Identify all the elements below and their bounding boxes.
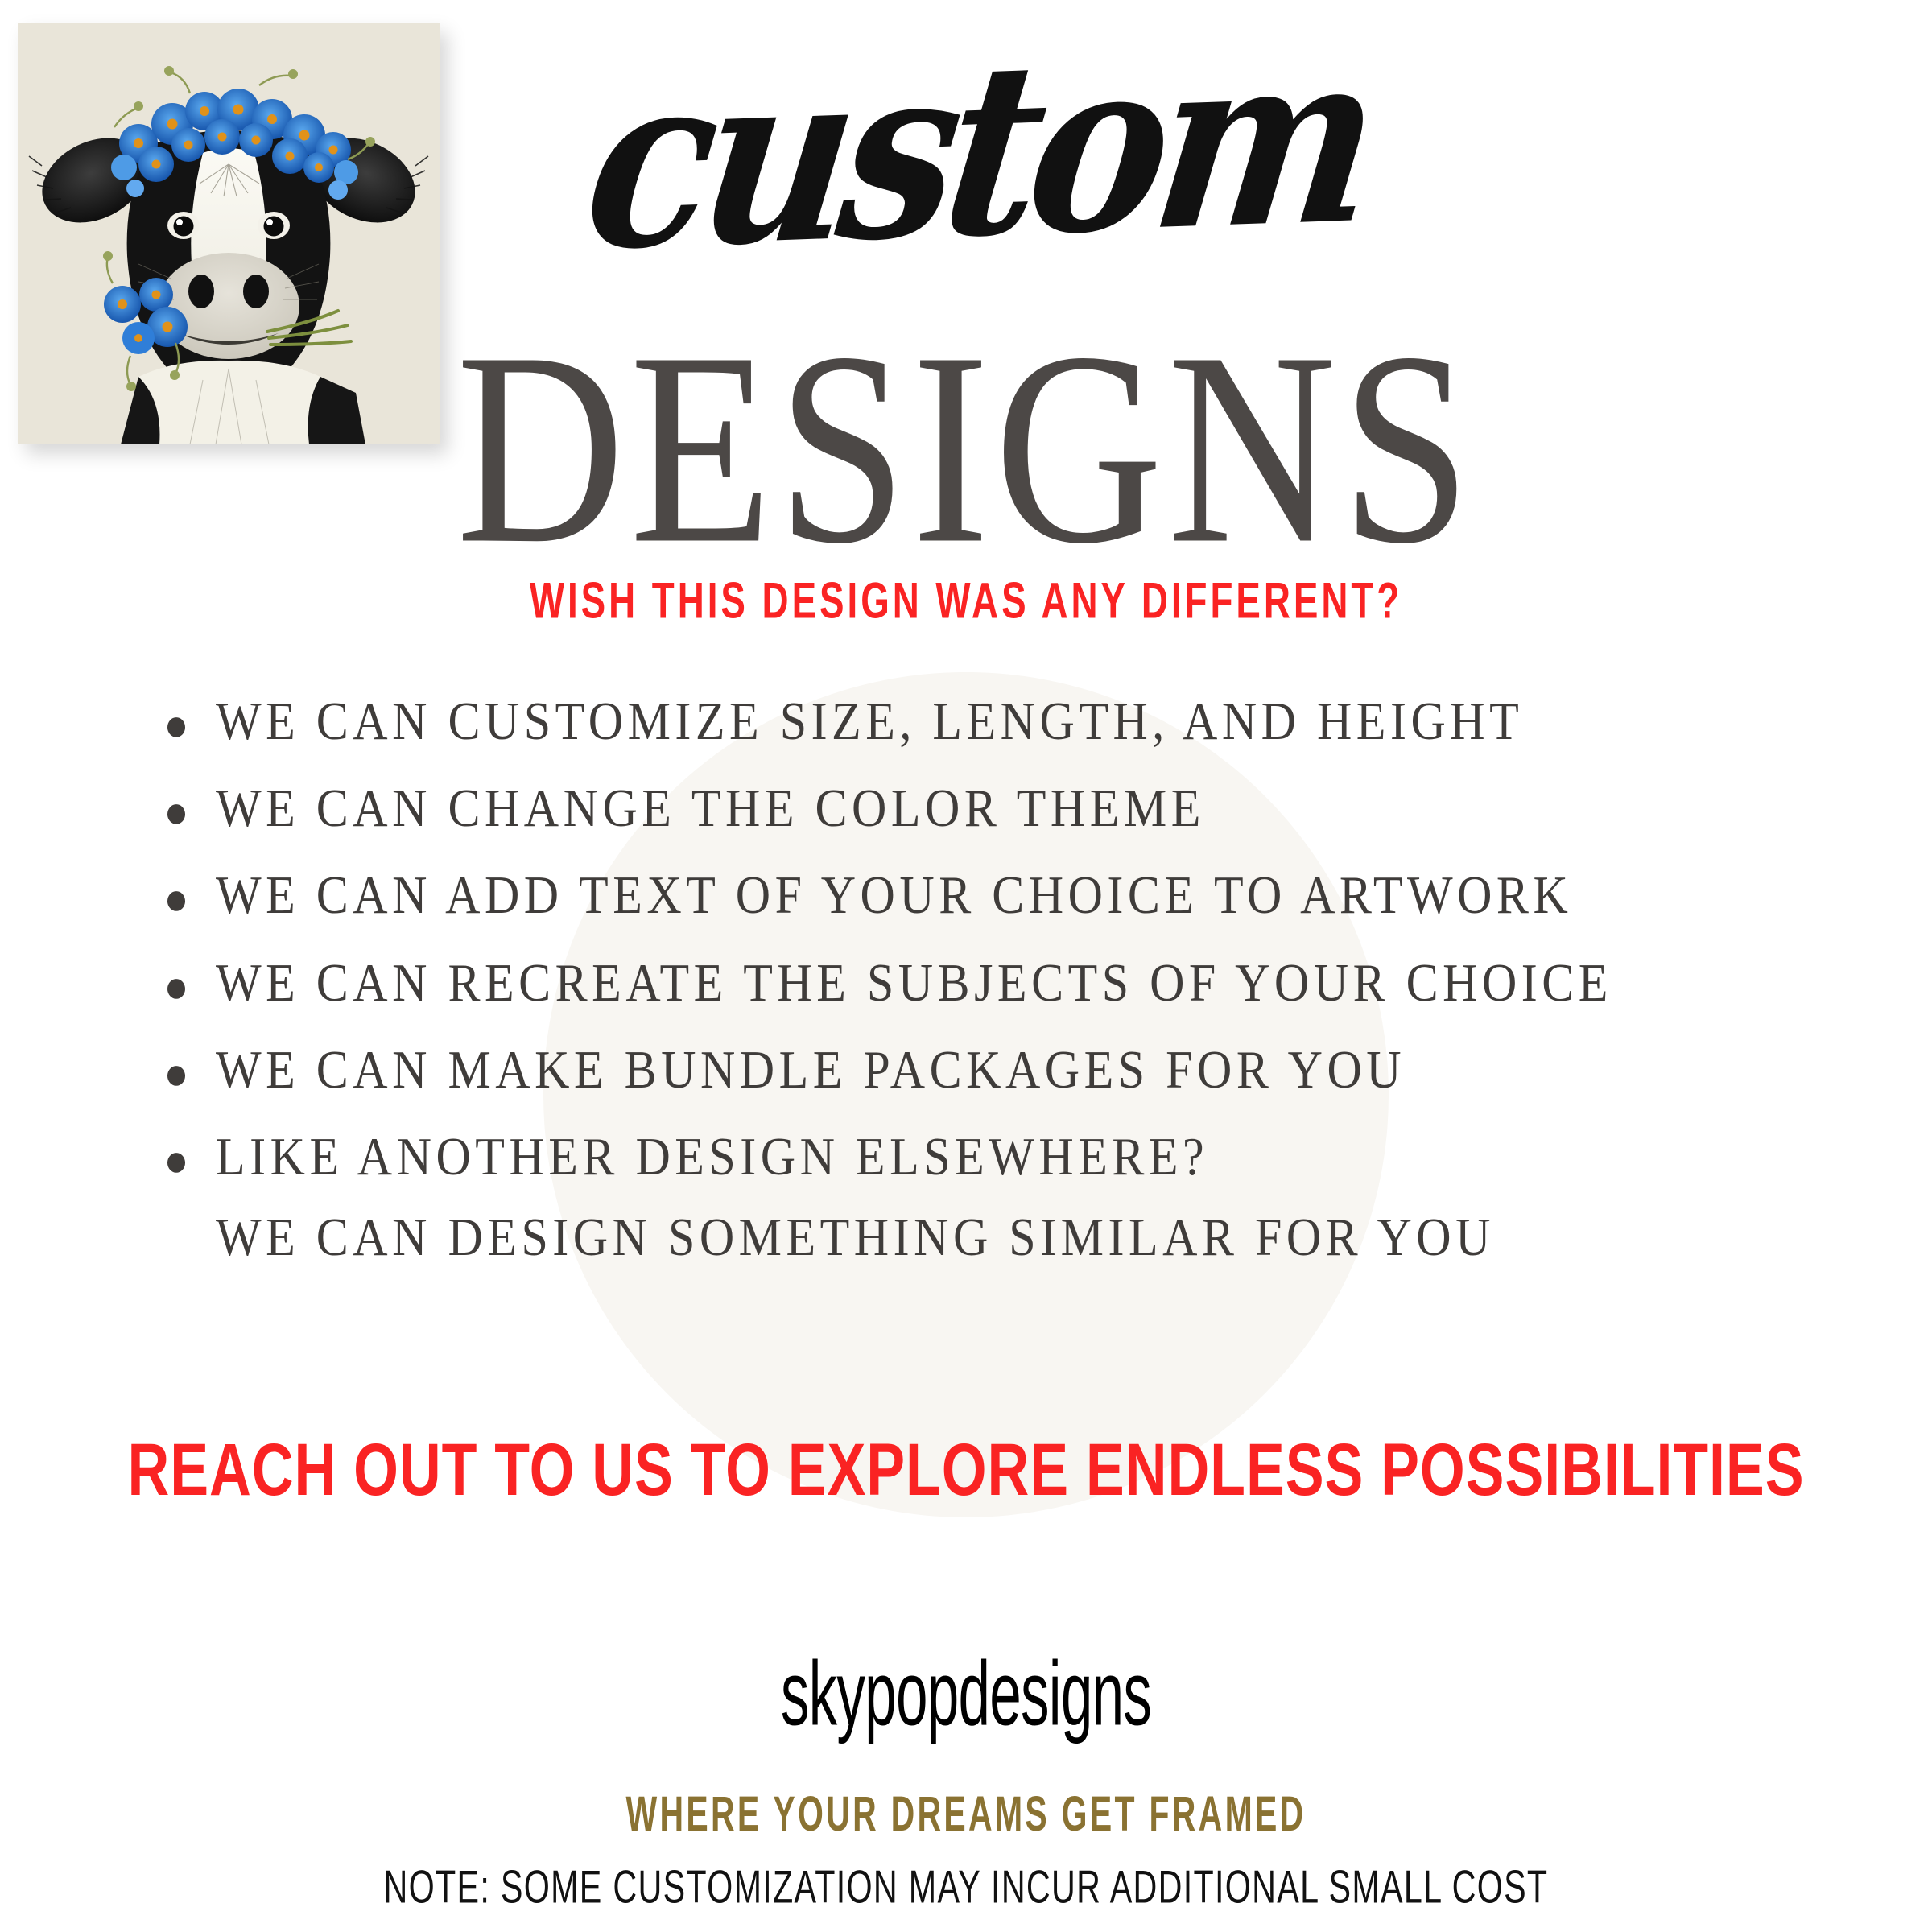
brand-name: skypopdesigns <box>251 1642 1681 1747</box>
list-item: WE CAN ADD TEXT OF YOUR CHOICE TO ARTWOR… <box>153 868 1819 923</box>
list-item: WE CAN RECREATE THE SUBJECTS OF YOUR CHO… <box>153 956 1819 1011</box>
page-title: DESIGNS <box>0 311 1932 586</box>
list-item: LIKE ANOTHER DESIGN ELSEWHERE? <box>153 1129 1819 1185</box>
list-item: WE CAN CUSTOMIZE SIZE, LENGTH, AND HEIGH… <box>153 694 1819 749</box>
list-item: WE CAN MAKE BUNDLE PACKAGES FOR YOU <box>153 1042 1819 1098</box>
call-to-action-text: REACH OUT TO US TO EXPLORE ENDLESS POSSI… <box>77 1426 1855 1513</box>
footer-note: NOTE: SOME CUSTOMIZATION MAY INCUR ADDIT… <box>135 1861 1797 1914</box>
brand-tagline: WHERE YOUR DREAMS GET FRAMED <box>174 1785 1758 1843</box>
customization-options-list: WE CAN CUSTOMIZE SIZE, LENGTH, AND HEIGH… <box>153 694 1819 1267</box>
list-item-continuation: WE CAN DESIGN SOMETHING SIMILAR FOR YOU <box>153 1210 1819 1265</box>
subtitle-question: WISH THIS DESIGN WAS ANY DIFFERENT? <box>116 572 1816 630</box>
custom-designs-infographic: custom DESIGNS WISH THIS DESIGN WAS ANY … <box>0 0 1932 1932</box>
script-headline-text: custom <box>576 19 1380 283</box>
list-item: WE CAN CHANGE THE COLOR THEME <box>153 781 1819 836</box>
